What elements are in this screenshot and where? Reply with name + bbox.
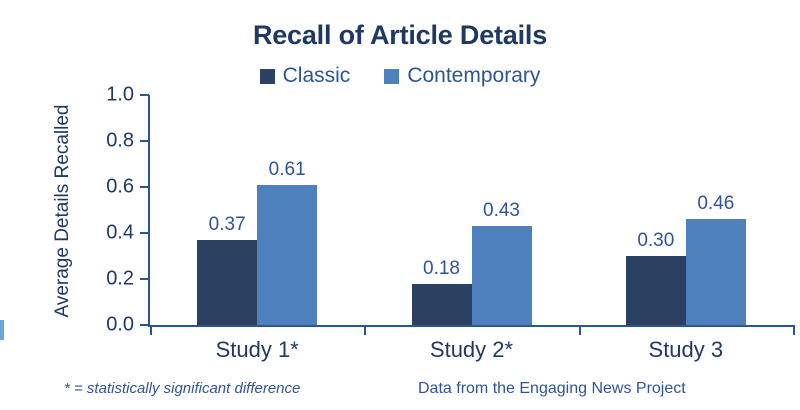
bar-value-label: 0.46 — [697, 193, 734, 215]
chart-container: Recall of Article Details Classic Contem… — [0, 0, 800, 410]
y-tick-label: 1.0 — [86, 84, 134, 107]
y-tick-label: 0.2 — [86, 268, 134, 291]
bar-contemporary-1[interactable]: 0.61 — [257, 185, 317, 325]
bar-classic-1[interactable]: 0.37 — [197, 240, 257, 325]
y-tick-mark — [140, 186, 149, 188]
y-tick-mark — [140, 232, 149, 234]
x-axis-line — [148, 325, 794, 327]
footnote-significance: * = statistically significant difference — [64, 380, 300, 397]
y-tick-mark — [140, 324, 149, 326]
x-category-label-3: Study 3 — [649, 337, 724, 363]
x-tick-mark — [793, 325, 795, 335]
bar-contemporary-3[interactable]: 0.46 — [686, 219, 746, 325]
bar-contemporary-2[interactable]: 0.43 — [472, 226, 532, 325]
bar-value-label: 0.61 — [269, 159, 306, 181]
y-tick-label: 0.4 — [86, 222, 134, 245]
bar-classic-2[interactable]: 0.18 — [412, 284, 472, 325]
bar-value-label: 0.18 — [423, 258, 460, 280]
y-axis-title: Average Details Recalled — [52, 86, 74, 336]
x-tick-mark — [150, 325, 152, 335]
y-tick-mark — [140, 94, 149, 96]
x-tick-mark — [364, 325, 366, 335]
y-tick-label: 0.0 — [86, 314, 134, 337]
bar-classic-3[interactable]: 0.30 — [626, 256, 686, 325]
bar-value-label: 0.37 — [209, 214, 246, 236]
y-tick-label: 0.8 — [86, 130, 134, 153]
y-tick-label: 0.6 — [86, 176, 134, 199]
y-tick-mark — [140, 278, 149, 280]
x-category-label-1: Study 1* — [216, 337, 299, 363]
footnote-data-source: Data from the Engaging News Project — [418, 380, 686, 398]
y-axis-line — [148, 95, 150, 327]
plot-area: Average Details Recalled 1.00.80.60.40.2… — [0, 0, 800, 410]
x-tick-mark — [579, 325, 581, 335]
bar-value-label: 0.43 — [483, 200, 520, 222]
y-tick-mark — [140, 140, 149, 142]
x-category-label-2: Study 2* — [430, 337, 513, 363]
bar-value-label: 0.30 — [637, 230, 674, 252]
